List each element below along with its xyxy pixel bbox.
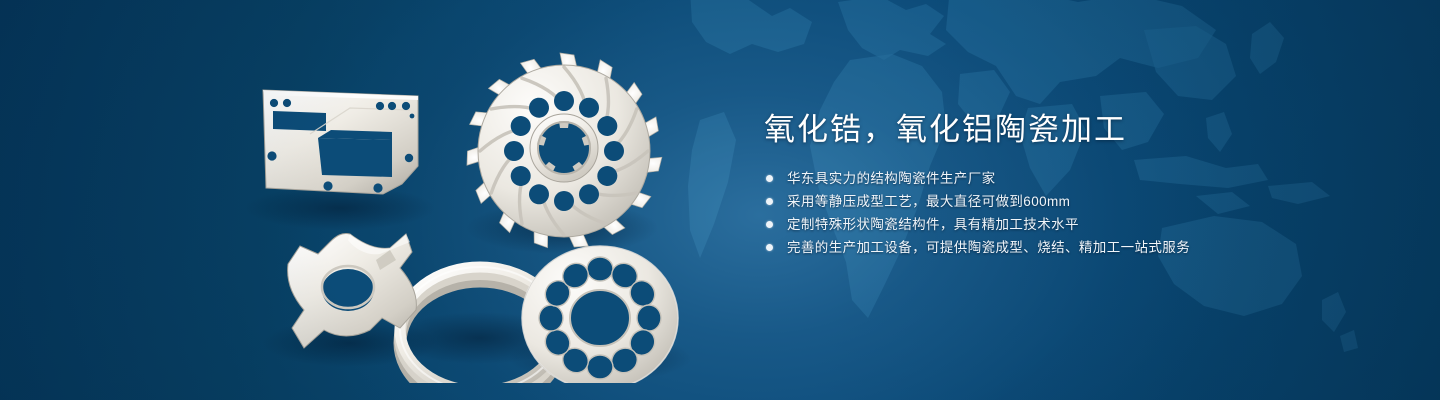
list-item: 华东具实力的结构陶瓷件生产厂家 (766, 171, 1384, 186)
page-title: 氧化锆，氧化铝陶瓷加工 (764, 108, 1384, 152)
list-item-label: 定制特殊形状陶瓷结构件，具有精加工技术水平 (787, 217, 1079, 232)
bullet-dot-icon (766, 221, 773, 228)
ceramic-hole-disc (522, 246, 678, 383)
list-item: 完善的生产加工设备，可提供陶瓷成型、烧结、精加工一站式服务 (766, 240, 1384, 255)
hero-banner: 氧化锆，氧化铝陶瓷加工 华东具实力的结构陶瓷件生产厂家 采用等静压成型工艺，最大… (0, 0, 1440, 400)
feature-list: 华东具实力的结构陶瓷件生产厂家 采用等静压成型工艺，最大直径可做到600mm 定… (766, 171, 1384, 255)
list-item: 采用等静压成型工艺，最大直径可做到600mm (766, 194, 1384, 209)
bullet-dot-icon (766, 244, 773, 251)
list-item: 定制特殊形状陶瓷结构件，具有精加工技术水平 (766, 217, 1384, 232)
banner-copy: 氧化锆，氧化铝陶瓷加工 华东具实力的结构陶瓷件生产厂家 采用等静压成型工艺，最大… (764, 108, 1384, 263)
list-item-label: 华东具实力的结构陶瓷件生产厂家 (787, 171, 996, 186)
bullet-dot-icon (766, 198, 773, 205)
list-item-label: 完善的生产加工设备，可提供陶瓷成型、烧结、精加工一站式服务 (787, 240, 1190, 255)
list-item-label: 采用等静压成型工艺，最大直径可做到600mm (787, 194, 1070, 209)
ceramic-mounting-plate (263, 90, 418, 194)
ceramic-products-image (230, 38, 710, 383)
bullet-dot-icon (766, 175, 773, 182)
